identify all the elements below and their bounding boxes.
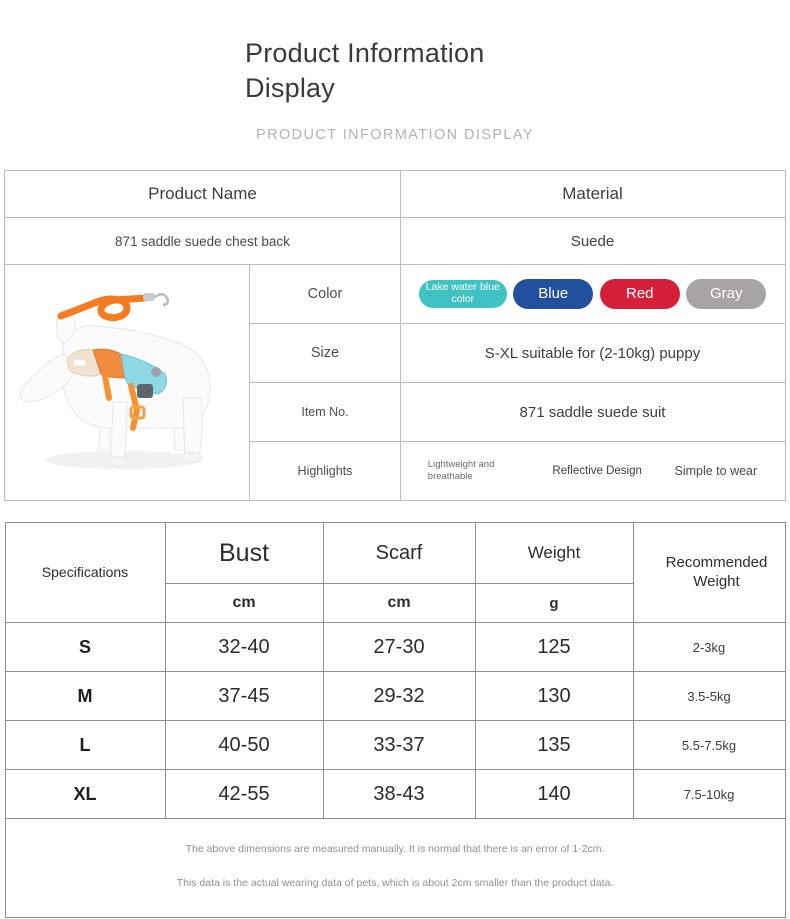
table-footnote-row: The above dimensions are measured manual…: [5, 819, 785, 918]
recommended-weight-header: Recommended Weight: [633, 523, 785, 623]
color-swatch-blue[interactable]: Blue: [513, 279, 593, 309]
cell-bust-xl: 42-55: [165, 770, 323, 819]
cell-recommended-m: 3.5-5kg: [633, 672, 785, 721]
row-size-m: M: [5, 672, 165, 721]
specifications-header: Specifications: [5, 523, 165, 623]
item-no-value: 871 saddle suede suit: [400, 383, 785, 442]
cell-scarf-s: 27-30: [323, 623, 475, 672]
size-label: Size: [250, 324, 400, 383]
highlight-item-lightweight: Lightweight and breathable: [428, 459, 520, 483]
table-row: L 40-50 33-37 135 5.5-7.5kg: [5, 721, 785, 770]
scarf-header: Scarf: [323, 523, 475, 584]
scarf-unit: cm: [323, 584, 475, 623]
table-header-row: Specifications Bust Scarf Weight Recomme…: [5, 523, 785, 584]
item-no-label: Item No.: [250, 383, 400, 442]
bust-header: Bust: [165, 523, 323, 584]
harness-buckle: [137, 384, 153, 398]
cell-scarf-xl: 38-43: [323, 770, 475, 819]
cell-recommended-xl: 7.5-10kg: [633, 770, 785, 819]
cell-scarf-l: 33-37: [323, 721, 475, 770]
page-title: Product Information Display: [245, 36, 545, 105]
weight-unit: g: [475, 584, 633, 623]
size-value: S-XL suitable for (2-10kg) puppy: [400, 324, 785, 383]
bust-unit: cm: [165, 584, 323, 623]
highlight-item-simple-to-wear: Simple to wear: [675, 464, 758, 478]
material-header: Material: [400, 171, 785, 218]
table-row: 871 saddle suede chest back Suede: [5, 218, 785, 265]
highlights-value: Lightweight and breathable Reflective De…: [400, 442, 785, 501]
table-row: Product Name Material: [5, 171, 785, 218]
cell-bust-s: 32-40: [165, 623, 323, 672]
page-header: Product Information Display PRODUCT INFO…: [0, 0, 790, 143]
color-swatch-red[interactable]: Red: [600, 279, 680, 309]
color-value: Lake water blue color Blue Red Gray: [400, 265, 785, 324]
footnote-cell: The above dimensions are measured manual…: [5, 819, 785, 918]
row-size-xl: XL: [5, 770, 165, 819]
color-swatch-lake-water-blue[interactable]: Lake water blue color: [419, 280, 507, 308]
dog-harness-illustration: [5, 274, 249, 492]
color-swatch-row: Lake water blue color Blue Red Gray: [402, 279, 784, 309]
cell-scarf-m: 29-32: [323, 672, 475, 721]
material-value: Suede: [400, 218, 785, 265]
table-row: M 37-45 29-32 130 3.5-5kg: [5, 672, 785, 721]
size-specification-table: Specifications Bust Scarf Weight Recomme…: [5, 522, 786, 918]
table-row: XL 42-55 38-43 140 7.5-10kg: [5, 770, 785, 819]
product-name-value: 871 saddle suede chest back: [5, 218, 400, 265]
row-size-l: L: [5, 721, 165, 770]
table-row: S 32-40 27-30 125 2-3kg: [5, 623, 785, 672]
cell-bust-m: 37-45: [165, 672, 323, 721]
footnote-line-1: The above dimensions are measured manual…: [6, 843, 785, 856]
cell-weight-s: 125: [475, 623, 633, 672]
row-size-s: S: [5, 623, 165, 672]
color-label: Color: [250, 265, 400, 324]
cell-weight-xl: 140: [475, 770, 633, 819]
cell-weight-l: 135: [475, 721, 633, 770]
cell-bust-l: 40-50: [165, 721, 323, 770]
product-info-table: Product Name Material 871 saddle suede c…: [4, 170, 785, 501]
product-photo: [5, 274, 249, 492]
highlights-row: Lightweight and breathable Reflective De…: [402, 459, 784, 483]
color-swatch-gray[interactable]: Gray: [686, 279, 766, 309]
highlights-label: Highlights: [250, 442, 400, 501]
highlight-item-reflective: Reflective Design: [552, 465, 641, 477]
product-photo-cell: [5, 265, 250, 501]
cell-recommended-s: 2-3kg: [633, 623, 785, 672]
weight-header: Weight: [475, 523, 633, 584]
cell-weight-m: 130: [475, 672, 633, 721]
table-row: Color Lake water blue color Blue Red Gra…: [5, 265, 785, 324]
footnote-line-2: This data is the actual wearing data of …: [6, 877, 785, 890]
page-subtitle: PRODUCT INFORMATION DISPLAY: [0, 127, 790, 143]
product-name-header: Product Name: [5, 171, 400, 218]
cell-recommended-l: 5.5-7.5kg: [633, 721, 785, 770]
